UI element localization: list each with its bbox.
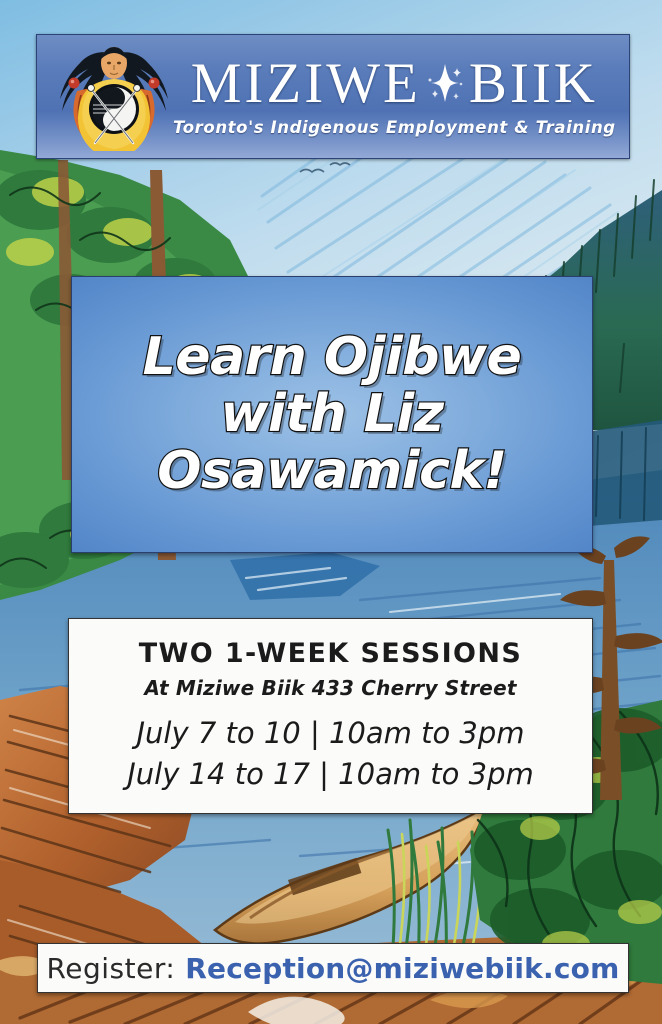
brand-word-biik: BIIK — [469, 56, 598, 112]
sessions-heading: TWO 1-WEEK SESSIONS — [139, 638, 523, 669]
sparkle-star-icon — [423, 60, 467, 110]
miziwe-biik-drum-emblem-icon — [55, 43, 173, 151]
brand-wordmark: MIZIWE BIIK — [173, 56, 616, 112]
session-info-panel: TWO 1-WEEK SESSIONS At Miziwe Biik 433 C… — [68, 618, 593, 814]
headline-line-3: Osawamick! — [143, 443, 522, 500]
register-label: Register: — [47, 952, 176, 985]
header-banner: MIZIWE BIIK Toronto's Indigenous Employm… — [36, 34, 630, 159]
brand-word-miziwe: MIZIWE — [191, 56, 421, 112]
session-line-1: July 7 to 10 | 10am to 3pm — [136, 713, 524, 753]
title-panel: Learn Ojibwe with Liz Osawamick! — [71, 276, 593, 553]
poster-headline: Learn Ojibwe with Liz Osawamick! — [133, 329, 532, 501]
brand-tagline: Toronto's Indigenous Employment & Traini… — [173, 118, 616, 137]
registration-footer-bar: Register: Reception@miziwebiik.com — [37, 943, 629, 993]
session-line-2: July 14 to 17 | 10am to 3pm — [127, 754, 534, 794]
poster-canvas: MIZIWE BIIK Toronto's Indigenous Employm… — [0, 0, 662, 1024]
banner-text-block: MIZIWE BIIK Toronto's Indigenous Employm… — [173, 56, 630, 138]
register-email-link[interactable]: Reception@miziwebiik.com — [185, 952, 619, 985]
headline-line-2: with Liz — [143, 386, 522, 443]
headline-line-1: Learn Ojibwe — [143, 329, 522, 386]
location-line: At Miziwe Biik 433 Cherry Street — [144, 676, 516, 700]
